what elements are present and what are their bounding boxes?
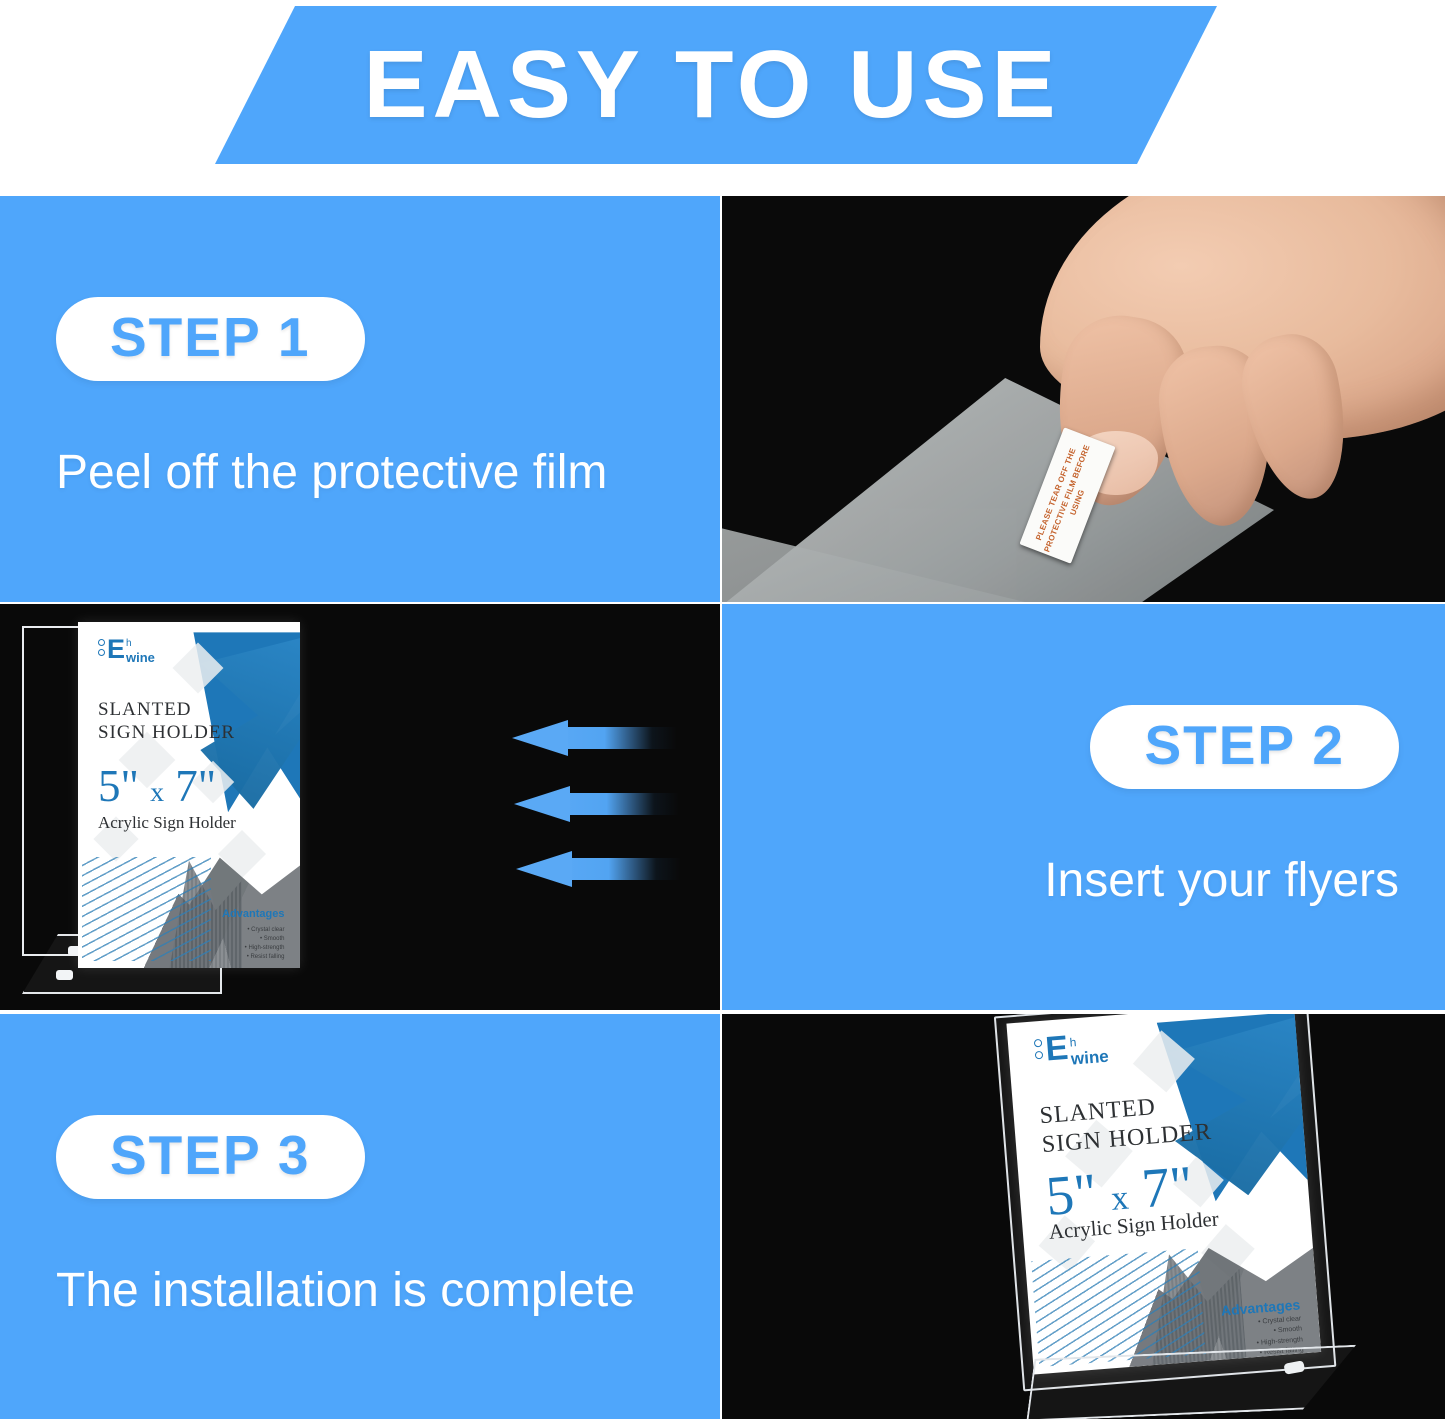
- logo-letter-e: E: [1044, 1035, 1069, 1065]
- arrow-left-icon: [514, 786, 679, 822]
- flyer-diagonal-lines: [1031, 1249, 1206, 1367]
- page-title: EASY TO USE: [364, 37, 1061, 133]
- panel-step1-text: STEP 1 Peel off the protective film: [0, 196, 720, 602]
- logo-word: wine: [1070, 1048, 1109, 1068]
- logo-dots-icon: [98, 638, 107, 658]
- flyer-advantage-item: • Smooth: [245, 935, 285, 944]
- panel-step2-text: STEP 2 Insert your flyers: [722, 604, 1445, 1010]
- flyer-title: SLANTED SIGN HOLDER: [1039, 1089, 1213, 1161]
- step1-block: STEP 1 Peel off the protective film: [0, 196, 720, 602]
- logo-word: wine: [126, 651, 155, 664]
- flyer-advantages-list: • Crystal clear • Smooth • High-strength…: [245, 926, 285, 961]
- header-banner: EASY TO USE: [215, 6, 1217, 164]
- panel-photo-insert-flyer: E h wine SLANTED SIGN HOLDER 5" x 7" Acr…: [0, 604, 720, 1010]
- flyer-advantage-item: • Crystal clear: [245, 926, 285, 935]
- panel-step3-text: STEP 3 The installation is complete: [0, 1014, 720, 1419]
- arrow-shaft: [554, 793, 679, 815]
- arrow-head: [512, 720, 568, 756]
- step3-pill: STEP 3: [56, 1115, 365, 1199]
- flyer-title-line2: SIGN HOLDER: [98, 721, 235, 744]
- panel-photo-peel-film: PLEASE TEAR OFF THE PROTECTIVE FILM BEFO…: [722, 196, 1445, 602]
- logo-dot: [1034, 1039, 1043, 1048]
- base-hole: [56, 970, 73, 980]
- arrow-head: [516, 851, 572, 887]
- arrow-shaft: [556, 858, 681, 880]
- step2-pill: STEP 2: [1090, 705, 1399, 789]
- logo-letter-e: E: [107, 638, 125, 660]
- panel-photo-finished-holder: E h wine SLANTED SIGN HOLDER 5" x 7" Acr…: [722, 1014, 1445, 1419]
- logo-dot: [1035, 1051, 1044, 1060]
- infographic-page: EASY TO USE STEP 1 Peel off the protecti…: [0, 0, 1445, 1419]
- flyer-artwork: E h wine SLANTED SIGN HOLDER 5" x 7" Acr…: [1006, 1014, 1321, 1374]
- step1-pill: STEP 1: [56, 297, 365, 381]
- flyer-size: 5" x 7": [98, 764, 216, 809]
- flyer-advantage-item: • Resist falling: [245, 953, 285, 962]
- logo-dot: [98, 649, 105, 656]
- step1-description: Peel off the protective film: [56, 445, 607, 500]
- peel-film-photo: PLEASE TEAR OFF THE PROTECTIVE FILM BEFO…: [722, 196, 1445, 602]
- step3-pill-label: STEP 3: [110, 1124, 311, 1186]
- step2-pill-label: STEP 2: [1144, 714, 1345, 776]
- flyer-size-x: x: [1110, 1177, 1130, 1217]
- logo-dot: [98, 639, 105, 646]
- arrow-left-icon: [512, 720, 677, 756]
- arrow-shaft: [552, 727, 677, 749]
- flyer-advantage-item: • High-strength: [245, 944, 285, 953]
- flyer-diagonal-lines: [82, 857, 211, 961]
- flyer-size-x: x: [150, 777, 164, 808]
- step2-block: STEP 2 Insert your flyers: [722, 604, 1445, 1010]
- logo-superscript: h: [126, 639, 155, 649]
- arrow-head: [514, 786, 570, 822]
- flyer-title-line1: SLANTED: [98, 698, 235, 721]
- slanted-sign-holder: E h wine SLANTED SIGN HOLDER 5" x 7" Acr…: [1006, 1014, 1367, 1419]
- flyer-size-first: 5": [98, 761, 139, 811]
- step3-description: The installation is complete: [56, 1263, 635, 1318]
- step2-description: Insert your flyers: [1044, 853, 1399, 908]
- logo-dots-icon: [1033, 1036, 1046, 1062]
- brand-logo: E h wine: [1033, 1032, 1109, 1071]
- arrow-left-icon: [516, 851, 681, 887]
- step1-pill-label: STEP 1: [110, 306, 311, 368]
- brand-logo: E h wine: [98, 638, 155, 664]
- step3-block: STEP 3 The installation is complete: [0, 1014, 720, 1419]
- flyer-artwork: E h wine SLANTED SIGN HOLDER 5" x 7" Acr…: [78, 622, 300, 968]
- flyer-advantages-title: Advantages: [222, 909, 284, 920]
- flyer-size-second: 7": [175, 761, 216, 811]
- header-area: EASY TO USE: [0, 0, 1445, 196]
- flyer-title: SLANTED SIGN HOLDER: [98, 698, 235, 744]
- flyer-subtitle: Acrylic Sign Holder: [98, 814, 236, 831]
